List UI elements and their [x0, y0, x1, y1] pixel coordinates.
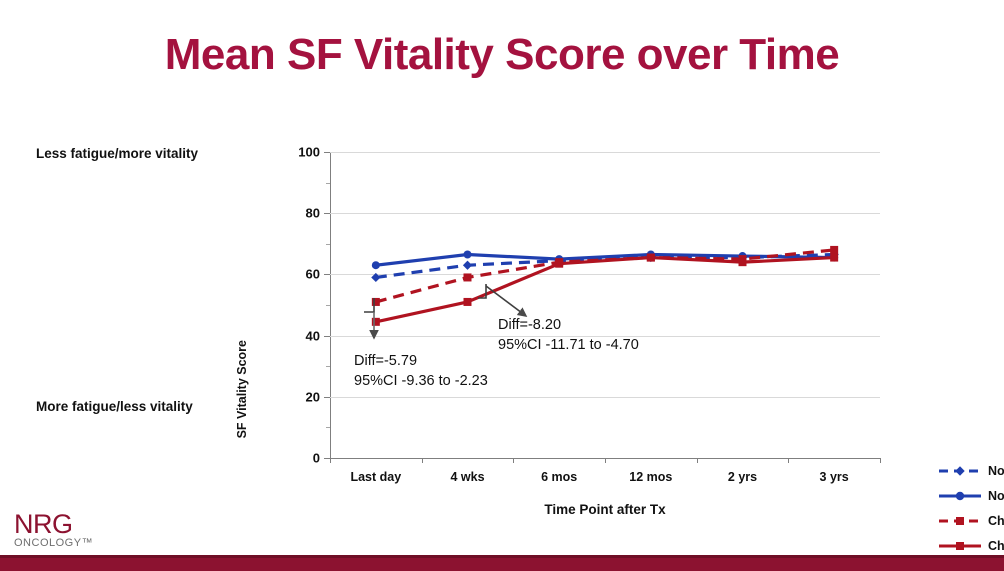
legend-swatch-icon — [938, 489, 982, 503]
data-point-marker — [463, 261, 472, 270]
x-tick — [697, 458, 698, 463]
legend-item[interactable]: Chemo, WBI — [938, 508, 1004, 533]
data-point-marker — [830, 254, 838, 262]
legend-label: No Chemo, PBI — [988, 489, 1004, 503]
x-tick-label: 2 yrs — [728, 470, 757, 484]
series-line — [376, 258, 834, 322]
y-tick-label: 0 — [313, 451, 320, 466]
x-tick-label: 12 mos — [629, 470, 672, 484]
data-point-marker — [464, 273, 472, 281]
data-point-marker — [830, 246, 838, 254]
y-tick-label: 40 — [306, 328, 320, 343]
y-tick-label: 60 — [306, 267, 320, 282]
plot-area: 020406080100 Diff=-5.79 — [330, 152, 880, 458]
legend-label: No Chemo, WBI — [988, 464, 1004, 478]
data-point-marker — [372, 261, 380, 269]
x-tick — [330, 458, 331, 463]
annotation-less-fatigue: Less fatigue/more vitality — [36, 146, 198, 161]
callout-ci-value: 95%CI -9.36 to -2.23 — [354, 372, 488, 392]
y-tick-label: 20 — [306, 389, 320, 404]
x-tick-label: Last day — [350, 470, 401, 484]
legend-label: Chemo, PBI — [988, 539, 1004, 553]
y-axis-title: SF Vitality Score — [235, 340, 249, 438]
x-tick — [880, 458, 881, 463]
x-tick — [422, 458, 423, 463]
data-point-marker — [464, 298, 472, 306]
nrg-oncology-logo: NRG ONCOLOGY™ — [14, 512, 93, 549]
x-tick-label: 6 mos — [541, 470, 577, 484]
data-point-marker — [647, 254, 655, 262]
callout-diff-last-day: Diff=-5.79 95%CI -9.36 to -2.23 — [354, 352, 488, 391]
x-tick-label: 4 wks — [450, 470, 484, 484]
data-point-marker — [372, 298, 380, 306]
callout-diff-4-wks: Diff=-8.20 95%CI -11.71 to -4.70 — [498, 316, 639, 355]
legend-label: Chemo, WBI — [988, 514, 1004, 528]
logo-nrg-text: NRG — [14, 512, 93, 538]
callout-ci-value: 95%CI -11.71 to -4.70 — [498, 336, 639, 356]
series-layer — [330, 152, 880, 458]
x-axis-title: Time Point after Tx — [330, 502, 880, 517]
chart-container: SF Vitality Score 020406080100 — [250, 140, 950, 540]
slide-canvas: Mean SF Vitality Score over Time Less fa… — [0, 0, 1004, 571]
legend-item[interactable]: No Chemo, PBI — [938, 483, 1004, 508]
data-point-marker — [372, 318, 380, 326]
logo-oncology-text: ONCOLOGY™ — [14, 538, 93, 549]
legend-swatch-icon — [938, 464, 982, 478]
chart-legend: No Chemo, WBI No Chemo, PBI Chemo, WBI C… — [938, 458, 1004, 558]
page-title: Mean SF Vitality Score over Time — [0, 30, 1004, 80]
data-point-marker — [739, 258, 747, 266]
data-point-marker — [371, 273, 380, 282]
data-point-marker — [555, 260, 563, 268]
callout-diff-value: Diff=-5.79 — [354, 352, 488, 372]
footer-bar — [0, 558, 1004, 571]
legend-swatch-icon — [938, 539, 982, 553]
x-tick-label: 3 yrs — [820, 470, 849, 484]
y-tick-label: 80 — [306, 206, 320, 221]
x-tick — [788, 458, 789, 463]
y-tick-label: 100 — [298, 145, 320, 160]
data-point-marker — [464, 251, 472, 259]
x-tick — [605, 458, 606, 463]
legend-item[interactable]: No Chemo, WBI — [938, 458, 1004, 483]
annotation-more-fatigue: More fatigue/less vitality — [36, 399, 193, 414]
legend-swatch-icon — [938, 514, 982, 528]
x-tick — [513, 458, 514, 463]
callout-diff-value: Diff=-8.20 — [498, 316, 639, 336]
